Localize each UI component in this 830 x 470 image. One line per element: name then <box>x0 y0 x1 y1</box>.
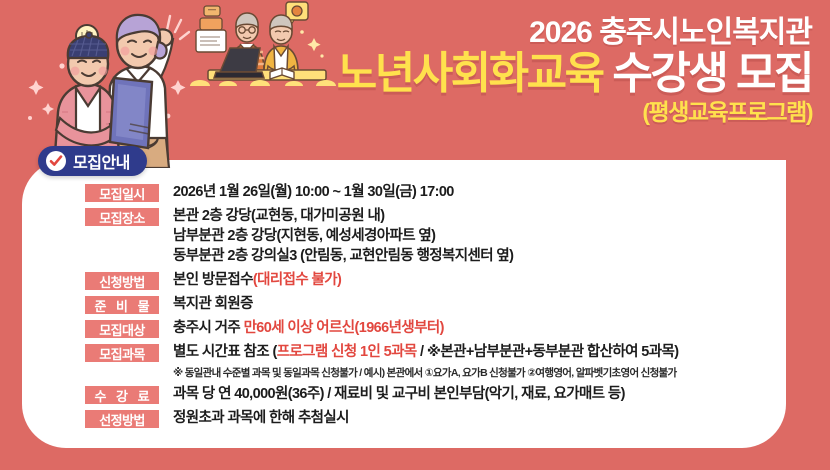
info-row-label: 모집대상 <box>85 320 159 338</box>
plain-text: 복지관 회원증 <box>173 296 253 312</box>
info-row: 신청방법본인 방문접수(대리접수 불가) <box>85 270 772 290</box>
page-title-white: 수강생 모집 <box>612 49 812 98</box>
info-row-note: ※ 동일관내 수준별 과목 및 동일과목 신청불가 / 예시) 본관에서 ①요가… <box>173 366 772 380</box>
plain-text: 별도 시간표 참조 ( <box>173 344 277 360</box>
info-row-value-line: 별도 시간표 참조 (프로그램 신청 1인 5과목 / ※본관+남부분관+동부분… <box>173 342 679 362</box>
info-row-label: 준 비 물 <box>85 296 159 314</box>
info-row-label: 수 강 료 <box>85 386 159 404</box>
info-row-label: 신청방법 <box>85 272 159 290</box>
info-row-value: 본인 방문접수(대리접수 불가) <box>173 270 341 290</box>
check-circle-icon <box>46 151 66 171</box>
info-row-value-line: 2026년 1월 26일(월) 10:00 ~ 1월 30일(금) 17:00 <box>173 182 454 202</box>
info-row-value-line: 정원초과 과목에 한해 추첨실시 <box>173 408 349 428</box>
status-badge: 모집안내 <box>38 146 147 176</box>
highlighted-text: (대리접수 불가) <box>253 272 341 288</box>
plain-text: 과목 당 연 40,000원(36주) / 재료비 및 교구비 본인부담(악기,… <box>173 386 625 402</box>
info-row-value: 별도 시간표 참조 (프로그램 신청 1인 5과목 / ※본관+남부분관+동부분… <box>173 342 679 362</box>
info-row-value-line: 과목 당 연 40,000원(36주) / 재료비 및 교구비 본인부담(악기,… <box>173 384 625 404</box>
info-row: 준 비 물복지관 회원증 <box>85 294 772 314</box>
info-row: 모집장소본관 2층 강당(교현동, 대가미공원 내)남부분관 2층 강당(지현동… <box>85 206 772 266</box>
info-row: 모집과목별도 시간표 참조 (프로그램 신청 1인 5과목 / ※본관+남부분관… <box>85 342 772 362</box>
info-row-value: 과목 당 연 40,000원(36주) / 재료비 및 교구비 본인부담(악기,… <box>173 384 625 404</box>
info-row-value: 2026년 1월 26일(월) 10:00 ~ 1월 30일(금) 17:00 <box>173 182 454 202</box>
highlighted-text: 만60세 이상 어르신(1966년생부터) <box>244 320 444 336</box>
page-title-yellow: 노년사회화교육 <box>337 49 603 98</box>
highlighted-text: 프로그램 신청 1인 5과목 <box>277 344 417 360</box>
plain-text: 충주시 거주 <box>173 320 244 336</box>
plain-text: / ※본관+남부분관+동부분관 합산하여 5과목) <box>417 344 679 360</box>
info-row-value-line: 복지관 회원증 <box>173 294 253 314</box>
info-panel: 모집일시2026년 1월 26일(월) 10:00 ~ 1월 30일(금) 17… <box>22 160 786 448</box>
plain-text: 2026년 1월 26일(월) 10:00 ~ 1월 30일(금) 17:00 <box>173 184 454 200</box>
info-row: 모집일시2026년 1월 26일(월) 10:00 ~ 1월 30일(금) 17… <box>85 182 772 202</box>
seniors-at-laptop-illustration <box>190 0 340 86</box>
page-title-note: (평생교육프로그램) <box>202 101 812 124</box>
info-row-label: 선정방법 <box>85 410 159 428</box>
plain-text: 남부분관 2층 강당(지현동, 예성세경아파트 옆) <box>173 228 435 244</box>
plain-text: 동부분관 2층 강의실3 (안림동, 교현안림동 행정복지센터 옆) <box>173 248 513 264</box>
plain-text: 정원초과 과목에 한해 추첨실시 <box>173 410 349 426</box>
info-row-label: 모집일시 <box>85 184 159 202</box>
two-seniors-reading-illustration <box>18 8 218 168</box>
info-row: 모집대상충주시 거주 만60세 이상 어르신(1966년생부터) <box>85 318 772 338</box>
status-badge-label: 모집안내 <box>73 149 130 173</box>
info-row-label: 모집장소 <box>85 208 159 226</box>
info-row-value-line: 본관 2층 강당(교현동, 대가미공원 내) <box>173 206 513 226</box>
info-row: 수 강 료과목 당 연 40,000원(36주) / 재료비 및 교구비 본인부… <box>85 384 772 404</box>
info-row-value-line: 충주시 거주 만60세 이상 어르신(1966년생부터) <box>173 318 444 338</box>
poster-root: 2026 충주시노인복지관 노년사회화교육 수강생 모집 (평생교육프로그램) … <box>0 0 830 470</box>
plain-text: 본인 방문접수 <box>173 272 253 288</box>
info-row: 선정방법정원초과 과목에 한해 추첨실시 <box>85 408 772 428</box>
info-row-label: 모집과목 <box>85 344 159 362</box>
info-row-value: 본관 2층 강당(교현동, 대가미공원 내)남부분관 2층 강당(지현동, 예성… <box>173 206 513 266</box>
plain-text: 본관 2층 강당(교현동, 대가미공원 내) <box>173 208 384 224</box>
info-row-value: 정원초과 과목에 한해 추첨실시 <box>173 408 349 428</box>
info-row-value-line: 남부분관 2층 강당(지현동, 예성세경아파트 옆) <box>173 226 513 246</box>
info-row-value-line: 동부분관 2층 강의실3 (안림동, 교현안림동 행정복지센터 옆) <box>173 246 513 266</box>
info-row-value: 충주시 거주 만60세 이상 어르신(1966년생부터) <box>173 318 444 338</box>
info-row-value: 복지관 회원증 <box>173 294 253 314</box>
info-row-list: 모집일시2026년 1월 26일(월) 10:00 ~ 1월 30일(금) 17… <box>85 182 772 432</box>
info-row-value-line: 본인 방문접수(대리접수 불가) <box>173 270 341 290</box>
